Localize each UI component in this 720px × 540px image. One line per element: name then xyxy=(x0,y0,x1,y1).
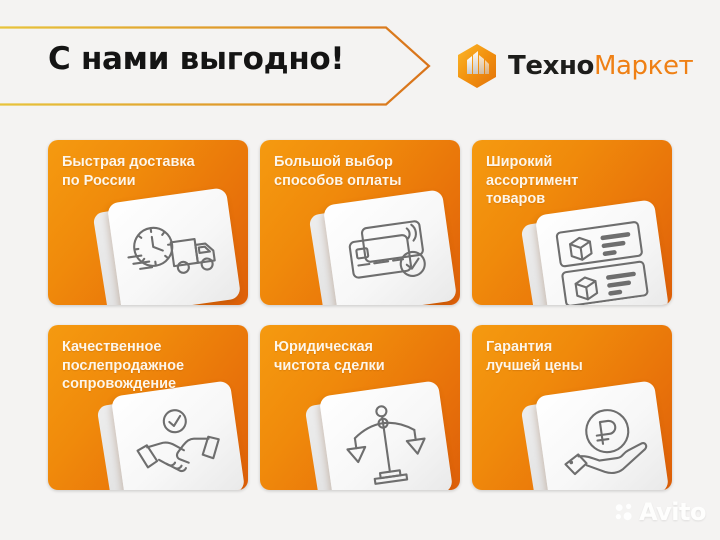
avito-watermark-label: Avito xyxy=(639,498,706,526)
icon-plate-front xyxy=(535,380,669,490)
header: С нами выгодно! ТехноМаркет xyxy=(0,0,720,122)
benefit-card-legal[interactable]: Юридическая чистота сделки xyxy=(260,325,460,490)
clock-truck-delivery-icon xyxy=(122,214,226,289)
icon-plate-front xyxy=(323,189,457,305)
icon-plate-front xyxy=(535,199,669,305)
benefit-card-delivery[interactable]: Быстрая доставка по России xyxy=(48,140,248,305)
benefit-card-title: Широкий ассортимент товаров xyxy=(486,153,660,209)
icon-plate-front xyxy=(319,380,453,490)
benefit-card-title: Быстрая доставка по России xyxy=(62,153,236,190)
benefit-card-title: Большой выбор способов оплаты xyxy=(274,153,448,190)
handshake-check-icon xyxy=(128,402,227,486)
hand-ruble-coin-icon xyxy=(552,402,651,486)
benefit-card-aftersales[interactable]: Качественное послепродажное сопровождени… xyxy=(48,325,248,490)
icon-plate-front xyxy=(111,380,245,490)
avito-dots-icon xyxy=(614,502,634,522)
justice-scales-icon xyxy=(341,399,431,489)
avito-watermark: Avito xyxy=(614,498,706,526)
brand-name: ТехноМаркет xyxy=(508,51,693,81)
brand-name-part2: Маркет xyxy=(594,51,693,81)
page-title: С нами выгодно! xyxy=(48,41,344,77)
benefit-card-title: Юридическая чистота сделки xyxy=(274,338,448,375)
benefits-grid: Быстрая доставка по России Большой выбор… xyxy=(48,140,672,490)
benefit-card-title: Качественное послепродажное сопровождени… xyxy=(62,338,236,394)
credit-card-contactless-check-icon xyxy=(341,215,439,291)
benefit-card-title: Гарантия лучшей цены xyxy=(486,338,660,375)
brand-name-part1: Техно xyxy=(508,51,594,81)
icon-plate-front xyxy=(107,187,241,305)
benefit-card-assortment[interactable]: Широкий ассортимент товаров xyxy=(472,140,672,305)
benefit-card-bestprice[interactable]: Гарантия лучшей цены xyxy=(472,325,672,490)
benefit-card-payment[interactable]: Большой выбор способов оплаты xyxy=(260,140,460,305)
hexagon-building-logo-icon xyxy=(455,43,499,89)
brand-logo[interactable]: ТехноМаркет xyxy=(455,43,693,89)
product-catalog-boxes-icon xyxy=(551,218,653,305)
